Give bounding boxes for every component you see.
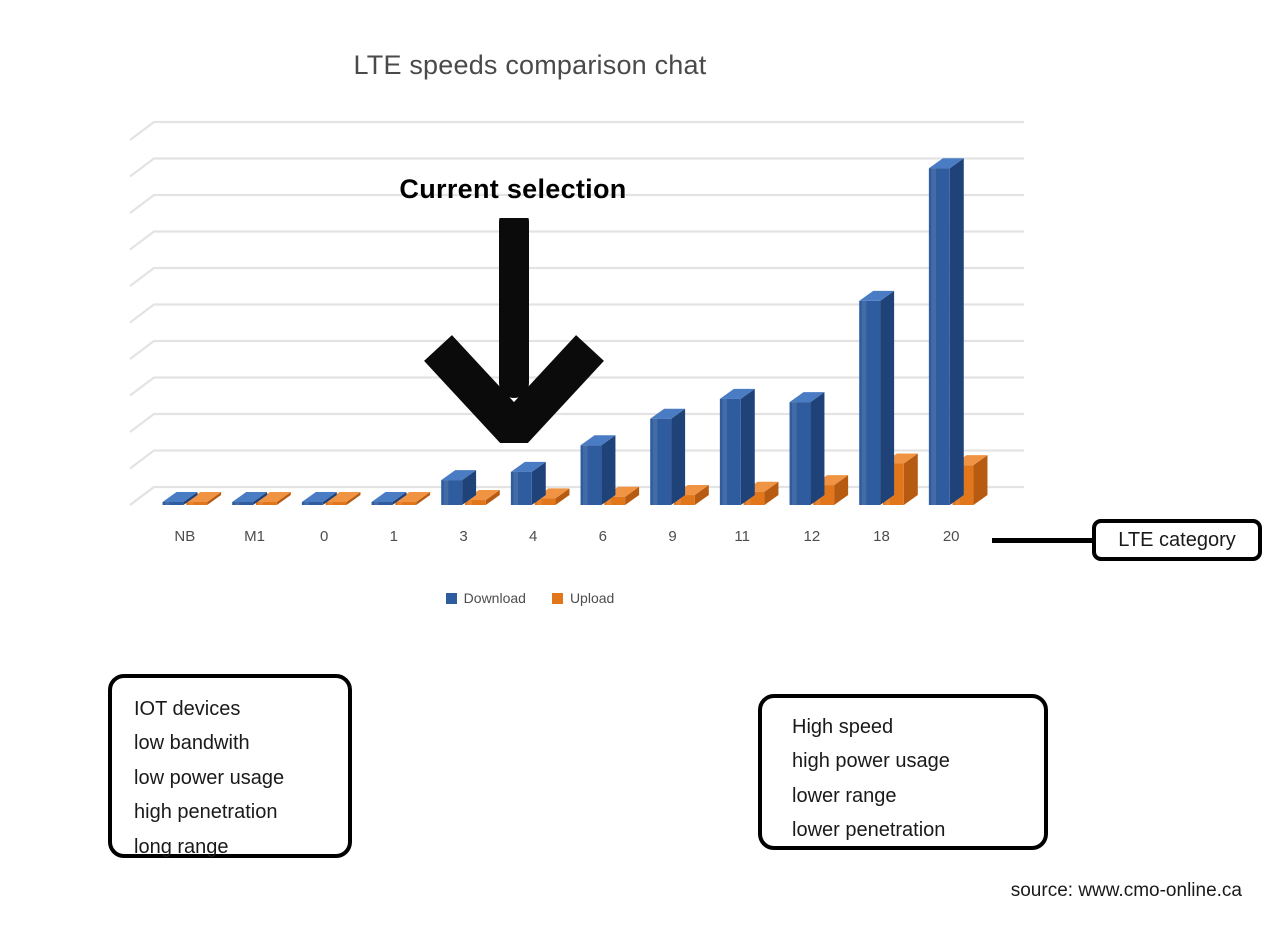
category-label-3: 3 (459, 528, 467, 545)
legend-label: Upload (570, 590, 614, 606)
chart-canvas: LTE speeds comparison chat NBM1013469111… (0, 0, 1280, 934)
category-label-12: 12 (803, 528, 820, 545)
down-arrow-icon (424, 218, 604, 443)
callout-line: high penetration (134, 795, 348, 829)
category-label-1: 1 (390, 528, 398, 545)
category-label-9: 9 (668, 528, 676, 545)
callout-line: High speed (792, 710, 1044, 744)
high-speed-callout: High speedhigh power usagelower rangelow… (758, 694, 1048, 850)
legend-item-upload[interactable]: Upload (552, 590, 614, 606)
category-label-4: 4 (529, 528, 537, 545)
legend-swatch-upload-icon (552, 593, 563, 604)
category-label-18: 18 (873, 528, 890, 545)
page-title: LTE speeds comparison chat (0, 50, 1060, 81)
iot-devices-callout: IOT deviceslow bandwithlow power usagehi… (108, 674, 352, 858)
category-label-0: 0 (320, 528, 328, 545)
callout-line: lower penetration (792, 813, 1044, 847)
callout-line: high power usage (792, 744, 1044, 778)
callout-line: long range (134, 830, 348, 864)
bar-download-11 (720, 389, 755, 505)
axis-tag-lte-category: LTE category (1092, 519, 1262, 561)
legend-item-download[interactable]: Download (446, 590, 526, 606)
callout-line: low bandwith (134, 726, 348, 760)
category-label-NB: NB (174, 528, 195, 545)
axis-tag-label: LTE category (1118, 530, 1235, 550)
bar-download-4 (511, 462, 546, 505)
callout-line: IOT devices (134, 692, 348, 726)
category-label-20: 20 (943, 528, 960, 545)
callout-line: low power usage (134, 761, 348, 795)
axis-tag-connector (992, 538, 1094, 543)
chart-legend: DownloadUpload (0, 590, 1060, 606)
category-axis: NBM101346911121820 (100, 528, 1000, 556)
bar-download-12 (790, 392, 825, 505)
callout-line: lower range (792, 779, 1044, 813)
category-label-M1: M1 (244, 528, 265, 545)
category-label-6: 6 (599, 528, 607, 545)
bar-download-9 (650, 409, 685, 505)
current-selection-label: Current selection (399, 174, 626, 205)
legend-swatch-download-icon (446, 593, 457, 604)
category-label-11: 11 (734, 528, 750, 545)
source-credit: source: www.cmo-online.ca (1011, 880, 1242, 902)
gridline (130, 122, 1024, 140)
bar-download-20 (929, 158, 964, 505)
bar-download-18 (859, 291, 894, 505)
legend-label: Download (464, 590, 526, 606)
bar-download-6 (581, 435, 616, 505)
